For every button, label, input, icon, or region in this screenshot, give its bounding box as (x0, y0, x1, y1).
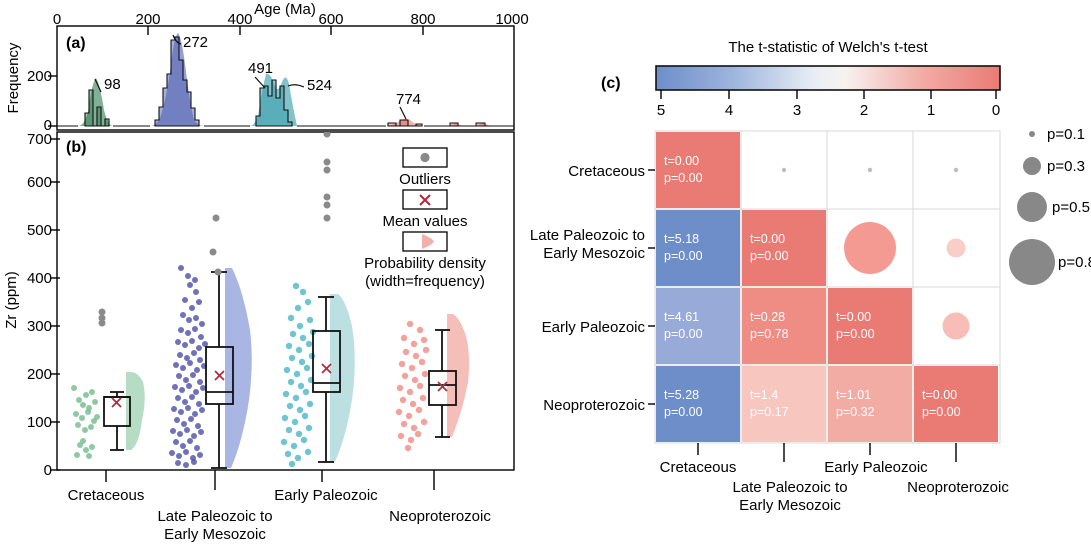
colorbar-gradient (656, 66, 1000, 90)
group-early-paleozoic (281, 131, 355, 468)
scatter-cretaceous (71, 385, 100, 459)
annot-98: 98 (104, 76, 121, 93)
mean-marker-cretaceous (112, 398, 121, 407)
cbar-tick-3: 3 (793, 102, 801, 119)
heatmap-col-labels: Cretaceous Late Paleozoic to Early Mesoz… (660, 443, 1010, 514)
panel-a-y-axis: 200 0 (27, 68, 57, 134)
cell-3-1[interactable] (742, 366, 826, 442)
bubble-0-3[interactable] (954, 168, 958, 172)
cell-2-2-t: t=0.00 (836, 310, 871, 324)
cell-3-0-p: p=0.00 (664, 405, 703, 419)
legend-label-mean: Mean values (382, 213, 467, 230)
cell-3-2-t: t=1.01 (836, 388, 871, 402)
ytick-b-0: 0 (44, 462, 52, 479)
cell-1-0-p: p=0.00 (664, 249, 703, 263)
group-late-paleozoic (169, 215, 252, 469)
bubble-2-3[interactable] (943, 313, 970, 340)
cbar-tick-4: 4 (725, 102, 733, 119)
group-cretaceous (71, 309, 145, 460)
cbar-tick-1: 1 (927, 102, 935, 119)
bubble-1-2[interactable] (844, 222, 896, 274)
cell-2-1-p: p=0.78 (750, 327, 789, 341)
panel-a: Age (Ma) 0 200 400 600 800 1000 (a) 200 … (5, 1, 529, 134)
ytick-b-300: 300 (27, 318, 52, 335)
cbar-tick-0: 0 (992, 102, 1000, 119)
cell-2-2[interactable] (828, 288, 912, 364)
heatmap-row-labels: Cretaceous Late Paleozoic to Early Mesoz… (530, 163, 655, 414)
bubble-1-3[interactable] (947, 239, 966, 258)
density-early-paleozoic (330, 294, 355, 462)
legend-label-outliers: Outliers (399, 171, 451, 188)
cell-2-1[interactable] (742, 288, 826, 364)
panel-a-histograms (57, 33, 514, 126)
bubble-legend-icon-2 (1017, 192, 1047, 222)
cell-1-1-t: t=0.00 (750, 232, 785, 246)
figure-svg: Age (Ma) 0 200 400 600 800 1000 (a) 200 … (0, 0, 1091, 546)
collabel-late-paleozoic-2: Early Mesozoic (739, 497, 841, 514)
ytick-b-600: 600 (27, 174, 52, 191)
rowlabel-cretaceous: Cretaceous (568, 163, 645, 180)
panel-b-y-axis: 0 100 200 300 400 500 600 700 (27, 131, 60, 479)
annot-491: 491 (248, 60, 273, 77)
legend-label-density: Probability density (364, 255, 486, 272)
cbar-tick-5: 5 (657, 102, 665, 119)
mean-marker-late-paleozoic (215, 371, 224, 380)
cell-0-0-t: t=0.00 (664, 154, 699, 168)
cell-3-0-t: t=5.28 (664, 388, 699, 402)
bubble-legend-label-2: p=0.5 (1052, 199, 1090, 216)
cell-0-0-p: p=0.00 (664, 171, 703, 185)
legend-label-density-sub: (width=frequency) (365, 273, 485, 290)
ytick-b-700: 700 (27, 131, 52, 148)
panel-a-title: Age (Ma) (254, 1, 316, 18)
outliers-late-paleozoic (210, 215, 222, 276)
panel-b-x-axis: Cretaceous Late Paleozoic to Early Mesoz… (68, 470, 492, 543)
colorbar: 5 4 3 2 1 0 (656, 66, 1000, 119)
panel-b-tag: (b) (66, 139, 86, 156)
mean-marker-neoproterozoic (438, 382, 447, 391)
annot-524: 524 (307, 77, 332, 94)
cell-1-1[interactable] (742, 210, 826, 286)
cbar-tick-2: 2 (860, 102, 868, 119)
cell-3-2[interactable] (828, 366, 912, 442)
xcat-late-paleozoic-1: Late Paleozoic to (157, 508, 272, 525)
cell-1-0-t: t=5.18 (664, 232, 699, 246)
ytick-b-500: 500 (27, 222, 52, 239)
mean-marker-early-paleozoic (322, 364, 331, 373)
collabel-early-paleozoic: Early Paleozoic (824, 459, 928, 476)
rowlabel-neoproterozoic: Neoproterozoic (543, 397, 645, 414)
bubble-legend-icon-1 (1023, 157, 1041, 175)
bubble-legend-label-1: p=0.3 (1047, 158, 1085, 175)
bubble-legend-icon-3 (1009, 239, 1055, 285)
panel-b: (b) Zr (ppm) 0 100 200 300 400 500 600 7… (3, 131, 514, 544)
density-cretaceous (126, 372, 145, 450)
panel-b-legend: Outliers Mean values Probability density… (364, 148, 486, 290)
scatter-early-paleozoic (281, 283, 316, 467)
annot-774: 774 (396, 91, 421, 108)
cell-1-1-p: p=0.00 (750, 249, 789, 263)
bubble-0-2[interactable] (868, 168, 872, 172)
cell-0-0[interactable] (656, 132, 740, 208)
cell-3-1-p: p=0.17 (750, 405, 789, 419)
rowlabel-late-paleozoic-2: Early Mesozoic (543, 245, 645, 262)
bubble-legend-label-0: p=0.1 (1047, 126, 1085, 143)
cell-2-0-p: p=0.00 (664, 327, 703, 341)
bubble-0-1[interactable] (782, 168, 786, 172)
cell-2-0-t: t=4.61 (664, 310, 699, 324)
ytick-b-400: 400 (27, 270, 52, 287)
outliers-early-paleozoic (324, 131, 331, 222)
group-neoproterozoic (396, 314, 469, 451)
scatter-late-paleozoic (169, 265, 208, 468)
cell-3-0[interactable] (656, 366, 740, 442)
annot-272: 272 (183, 34, 208, 51)
rowlabel-late-paleozoic-1: Late Paleozoic to (530, 227, 645, 244)
rowlabel-early-paleozoic: Early Paleozoic (542, 319, 646, 336)
density-neoproterozoic (447, 314, 469, 437)
outlier-dot-icon (420, 153, 429, 162)
ytick-b-100: 100 (27, 414, 52, 431)
xcat-early-paleozoic: Early Paleozoic (274, 487, 378, 504)
xcat-neoproterozoic: Neoproterozoic (389, 508, 491, 525)
panel-a-ylabel: Frequency (5, 42, 22, 113)
cell-1-0[interactable] (656, 210, 740, 286)
bubble-legend-label-3: p=0.8 (1058, 254, 1091, 271)
bubble-legend-icon-0 (1029, 131, 1035, 137)
cell-2-2-p: p=0.00 (836, 327, 875, 341)
panel-c-tag: (c) (601, 75, 621, 92)
panel-c: (c) The t-statistic of Welch's t-test 5 … (530, 39, 1091, 514)
colorbar-title: The t-statistic of Welch's t-test (728, 39, 928, 56)
figure-root: Age (Ma) 0 200 400 600 800 1000 (a) 200 … (0, 0, 1091, 546)
collabel-neoproterozoic: Neoproterozoic (907, 479, 1009, 496)
cell-2-1-t: t=0.28 (750, 310, 785, 324)
bubble-size-legend: p=0.1 p=0.3 p=0.5 p=0.8 (1009, 126, 1091, 285)
xcat-late-paleozoic-2: Early Mesozoic (164, 526, 266, 543)
xcat-cretaceous: Cretaceous (68, 487, 145, 504)
cell-3-3-t: t=0.00 (922, 388, 957, 402)
outliers-cretaceous (99, 309, 106, 327)
cell-2-0[interactable] (656, 288, 740, 364)
scatter-neoproterozoic (396, 321, 429, 451)
density-late-paleozoic (225, 268, 252, 468)
collabel-late-paleozoic-1: Late Paleozoic to (732, 479, 847, 496)
ytick-b-200: 200 (27, 366, 52, 383)
cell-3-3[interactable] (914, 366, 998, 442)
cell-3-3-p: p=0.00 (922, 405, 961, 419)
hist-a-neoproterozoic (388, 120, 422, 126)
cell-3-2-p: p=0.32 (836, 405, 875, 419)
collabel-cretaceous: Cretaceous (660, 459, 737, 476)
panel-b-ylabel: Zr (ppm) (3, 271, 20, 329)
panel-a-tag: (a) (66, 35, 86, 52)
panel-a-annotations: 98 272 491 524 774 (95, 34, 421, 119)
cell-3-1-t: t=1.4 (750, 388, 778, 402)
